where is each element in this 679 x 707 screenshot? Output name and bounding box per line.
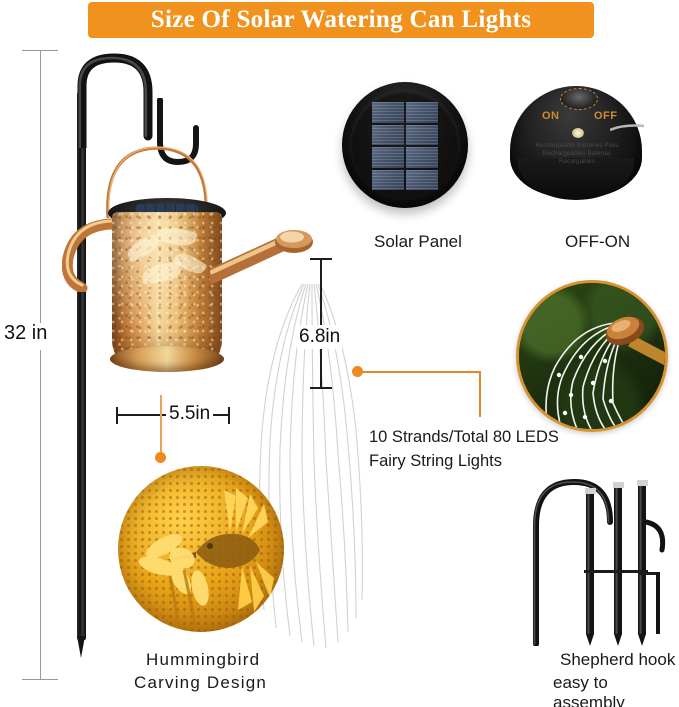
off-on-label: OFF-ON [565,232,630,252]
shepherd-hook-ground-tip [77,636,85,658]
solar-cell [372,102,404,123]
carving-label-line2: Carving Design [134,673,267,693]
solar-panel-label: Solar Panel [374,232,462,252]
off-on-switch-dial[interactable] [560,88,598,110]
solar-cell [406,102,438,123]
fairy-lights-leader-line-h [362,371,480,373]
height-dim-line-lower [40,350,41,680]
power-switch-icon: ON OFF Rechargeable Batteries Piles Rech… [506,80,646,212]
drop-dim-cap-bottom [310,387,332,389]
solar-panel-icon [342,82,468,208]
solar-cell [372,170,404,191]
fairy-lights-label-line2: Fairy String Lights [369,452,502,471]
led-strands-photo [516,280,668,432]
drop-dim-label: 6.8in [297,325,342,349]
width-dim-label: 5.5in [166,403,213,425]
off-on-on-label: ON [542,110,560,122]
height-dim-line-upper [40,50,41,323]
carving-label-line1: Hummingbird [146,650,260,670]
height-dim-label: 32 in [4,322,47,345]
solar-cell [372,147,404,168]
off-on-off-label: OFF [594,110,618,122]
led-photo-strands [519,283,665,429]
height-dim-cap-bottom [22,679,58,680]
off-on-embossed-text: Rechargeable Batteries Piles Rechargeabl… [534,142,620,166]
drop-dim-line [320,258,322,388]
width-dim-cap-right [228,407,230,424]
solar-cell [406,147,438,168]
solar-cell [406,125,438,146]
hummingbird-carving-icon [118,466,284,632]
page-title: Size Of Solar Watering Can Lights [151,6,532,34]
hook-label-line2: easy to assembly [553,673,679,707]
hook-label-line1: Shepherd hook [560,650,675,670]
solar-cell [406,170,438,191]
carving-leader-line [160,395,162,455]
can-spout [210,226,320,288]
title-banner: Size Of Solar Watering Can Lights [88,2,594,38]
fairy-lights-leader-line-v [479,371,481,417]
shepherd-hook-parts-art [528,466,678,646]
can-body [112,212,222,362]
width-dim-cap-left [116,407,118,424]
solar-cell-grid [372,102,438,190]
hummingbird-carving-art [118,466,284,632]
off-on-led [572,128,584,138]
solar-cell [372,125,404,146]
product-infographic: Size Of Solar Watering Can Lights 32 in [0,0,679,707]
shepherd-hook-icon [528,466,678,646]
can-base [110,346,224,372]
fairy-lights-label-line1: 10 Strands/Total 80 LEDS [369,428,559,447]
carving-leader-dot [155,452,166,463]
off-on-wire [610,124,644,134]
